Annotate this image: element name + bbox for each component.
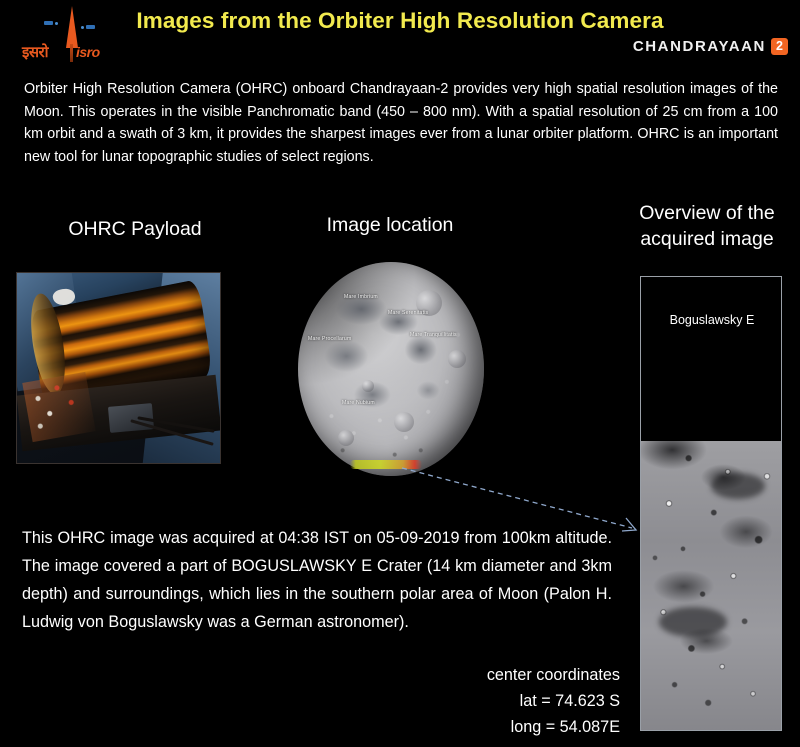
mare-label-serenitatis: Mare Serenitatis <box>388 310 428 316</box>
center-coordinates-block: center coordinates lat = 74.623 S long =… <box>380 662 620 740</box>
coordinates-title: center coordinates <box>380 662 620 688</box>
lunar-dark-region <box>659 607 727 637</box>
payload-wiring-harness <box>22 372 95 442</box>
page-header: इसरो isro Images from the Orbiter High R… <box>0 0 800 68</box>
rocket-tail-icon <box>70 44 73 62</box>
mare-label-imbrium: Mare Imbrium <box>344 294 378 300</box>
moon-crater-speckle <box>298 262 484 476</box>
description-paragraph: This OHRC image was acquired at 04:38 IS… <box>22 524 612 636</box>
moon-crater <box>362 380 374 392</box>
moon-crater <box>338 430 354 446</box>
moon-near-side-map: Mare Imbrium Mare Serenitatis Mare Tranq… <box>298 262 484 476</box>
ohrc-payload-photo <box>16 272 221 464</box>
crater-name-label: Boguslawsky E <box>641 313 782 327</box>
coordinates-latitude: lat = 74.623 S <box>380 688 620 714</box>
mare-label-procellarum: Mare Procellarum <box>308 336 351 342</box>
section-heading-payload: OHRC Payload <box>20 216 250 242</box>
arrow-line <box>402 468 632 528</box>
moon-crater <box>448 350 466 368</box>
moon-crater <box>394 412 414 432</box>
coordinates-longitude: long = 54.087E <box>380 714 620 740</box>
isro-logo-hindi-text: इसरो <box>22 42 48 62</box>
isro-logo-english-text: isro <box>76 44 100 60</box>
chandrayaan-brand: CHANDRAYAAN 2 <box>633 38 788 55</box>
lunar-dark-region <box>711 473 765 499</box>
section-heading-location: Image location <box>290 212 490 238</box>
chandrayaan-wordmark: CHANDRAYAAN <box>633 38 766 55</box>
intro-paragraph: Orbiter High Resolution Camera (OHRC) on… <box>24 78 778 168</box>
arrow-head-icon <box>622 518 636 531</box>
section-heading-overview: Overview of the acquired image <box>614 200 800 252</box>
mare-label-nubium: Mare Nubium <box>342 400 375 406</box>
acquired-image-strip: Boguslawsky E <box>640 276 782 731</box>
page-title: Images from the Orbiter High Resolution … <box>0 8 800 34</box>
mare-label-tranquillitatis: Mare Tranquillitatis <box>410 332 457 338</box>
chandrayaan-number-badge: 2 <box>771 38 788 55</box>
